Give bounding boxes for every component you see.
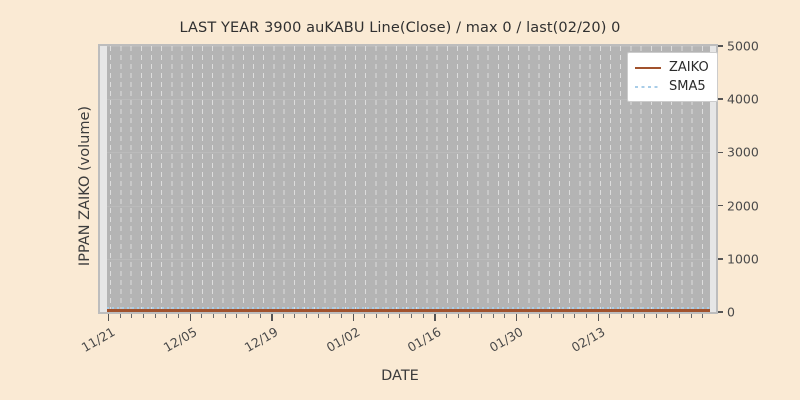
legend-swatch-dotted-icon: [635, 82, 661, 92]
x-axis-major-tick: [190, 314, 191, 321]
x-axis-minor-tick: [574, 314, 575, 318]
y-axis-tick-label: 0: [727, 305, 735, 320]
x-axis-minor-tick: [563, 314, 564, 318]
x-axis-minor-tick: [120, 314, 121, 318]
y-axis-tick-mark: [718, 311, 723, 313]
x-axis-minor-tick: [411, 314, 412, 318]
legend-label-zaiko: ZAIKO: [669, 60, 709, 75]
chart-figure: LAST YEAR 3900 auKABU Line(Close) / max …: [0, 0, 800, 400]
x-axis-minor-tick: [329, 314, 330, 318]
x-axis-tick-label: 02/13: [560, 324, 607, 360]
x-axis-minor-tick: [201, 314, 202, 318]
x-axis-minor-tick: [213, 314, 214, 318]
y-axis-tick-mark: [718, 258, 723, 260]
y-gridline: [100, 259, 716, 260]
x-axis-minor-tick: [294, 314, 295, 318]
x-axis-minor-tick: [364, 314, 365, 318]
legend-item-zaiko[interactable]: ZAIKO: [635, 58, 709, 77]
chart-legend[interactable]: ZAIKO SMA5: [627, 52, 718, 102]
x-axis-minor-tick: [236, 314, 237, 318]
x-axis-minor-tick: [178, 314, 179, 318]
axis-spine-top: [98, 44, 718, 46]
x-axis-minor-tick: [318, 314, 319, 318]
x-axis-minor-tick: [679, 314, 680, 318]
y-axis-tick-mark: [718, 45, 723, 47]
x-axis-major-tick: [598, 314, 599, 321]
chart-title: LAST YEAR 3900 auKABU Line(Close) / max …: [0, 20, 800, 36]
y-axis-tick-label: 3000: [727, 145, 759, 160]
x-axis-minor-tick: [656, 314, 657, 318]
x-axis-minor-tick: [702, 314, 703, 318]
y-gridline: [100, 152, 716, 153]
x-axis-minor-tick: [399, 314, 400, 318]
legend-label-sma5: SMA5: [669, 79, 706, 94]
x-axis-minor-tick: [155, 314, 156, 318]
x-axis-tick-label: 12/19: [233, 324, 280, 360]
x-axis-major-tick: [434, 314, 435, 321]
x-axis-major-tick: [516, 314, 517, 321]
x-axis-minor-tick: [667, 314, 668, 318]
x-axis-minor-tick: [283, 314, 284, 318]
x-axis-minor-tick: [376, 314, 377, 318]
x-axis-minor-tick: [539, 314, 540, 318]
y-axis-tick-label: 2000: [727, 198, 759, 213]
x-axis-tick-label: 01/02: [315, 324, 362, 360]
x-axis-minor-tick: [691, 314, 692, 318]
x-axis-minor-tick: [423, 314, 424, 318]
x-axis-tick-label: 01/16: [397, 324, 444, 360]
x-axis-minor-tick: [248, 314, 249, 318]
horizontal-gridlines: [100, 46, 716, 312]
x-axis-tick-label: 01/30: [478, 324, 525, 360]
x-axis-minor-tick: [469, 314, 470, 318]
y-gridline: [100, 99, 716, 100]
axis-spine-bottom: [98, 312, 718, 314]
x-axis-minor-tick: [166, 314, 167, 318]
x-axis-minor-tick: [586, 314, 587, 318]
x-axis-minor-tick: [225, 314, 226, 318]
y-axis-tick-mark: [718, 205, 723, 207]
x-axis-minor-tick: [306, 314, 307, 318]
y-gridline: [100, 46, 716, 47]
legend-swatch-solid-icon: [635, 63, 661, 73]
x-axis-minor-tick: [633, 314, 634, 318]
y-axis-tick-label: 5000: [727, 39, 759, 54]
y-axis-title: IPPAN ZAIKO (volume): [77, 66, 93, 306]
x-axis-major-tick: [353, 314, 354, 321]
x-axis-minor-tick: [341, 314, 342, 318]
x-axis-minor-tick: [528, 314, 529, 318]
x-axis-tick-label: 12/05: [152, 324, 199, 360]
x-axis-minor-tick: [388, 314, 389, 318]
x-axis-minor-tick: [131, 314, 132, 318]
x-axis-minor-tick: [644, 314, 645, 318]
x-axis-minor-tick: [446, 314, 447, 318]
x-axis-minor-tick: [481, 314, 482, 318]
y-gridline: [100, 206, 716, 207]
y-axis-tick-label: 1000: [727, 251, 759, 266]
x-axis-minor-tick: [621, 314, 622, 318]
x-axis-minor-tick: [458, 314, 459, 318]
x-axis-minor-tick: [551, 314, 552, 318]
plot-area: [100, 46, 716, 312]
legend-item-sma5[interactable]: SMA5: [635, 77, 709, 96]
y-axis-tick-label: 4000: [727, 92, 759, 107]
x-axis-major-tick: [271, 314, 272, 321]
axis-spine-left: [98, 46, 100, 314]
x-axis-minor-tick: [493, 314, 494, 318]
x-axis-minor-tick: [143, 314, 144, 318]
plot-left-margin-band: [100, 46, 107, 312]
y-axis-tick-mark: [718, 98, 723, 100]
x-axis-minor-tick: [260, 314, 261, 318]
y-axis-tick-mark: [718, 152, 723, 154]
x-axis-minor-tick: [504, 314, 505, 318]
x-axis-tick-label: 11/21: [70, 324, 117, 360]
x-axis-minor-tick: [609, 314, 610, 318]
x-axis-major-tick: [108, 314, 109, 321]
x-axis-title: DATE: [0, 368, 800, 384]
